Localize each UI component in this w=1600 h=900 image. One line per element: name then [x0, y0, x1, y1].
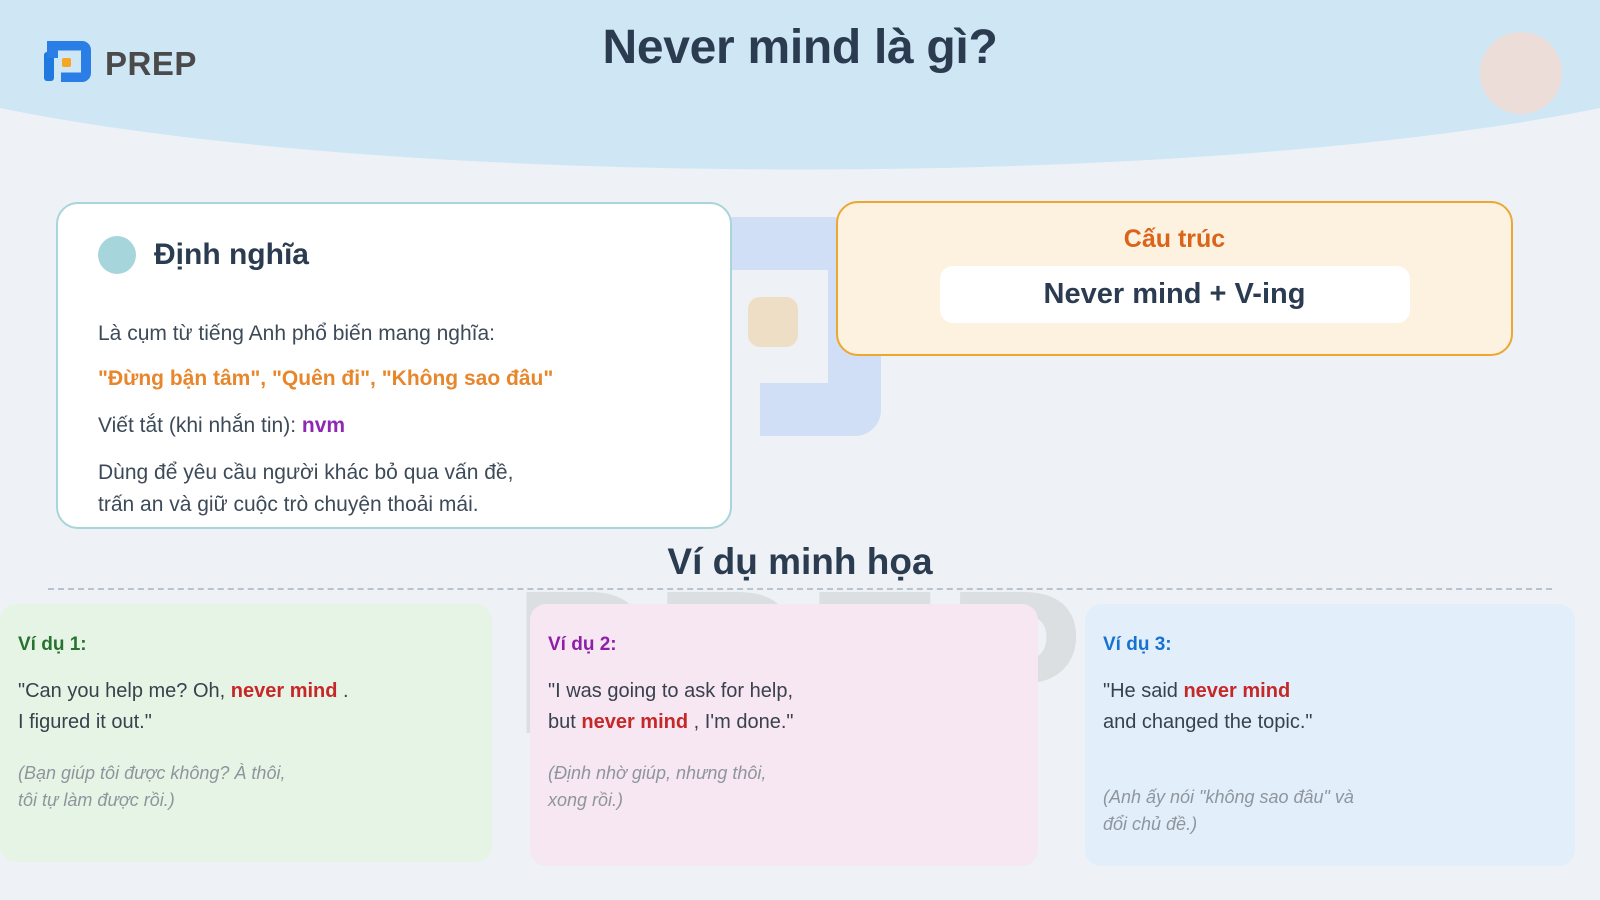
examples-section-title: Ví dụ minh họa: [0, 541, 1600, 583]
definition-title: Định nghĩa: [154, 238, 309, 272]
example-2-translation-line2: xong rồi.): [548, 790, 623, 810]
example-1-quote-post: .: [337, 680, 348, 702]
structure-title: Cấu trúc: [1124, 225, 1225, 254]
example-3-quote: "He said never mindand changed the topic…: [1103, 676, 1557, 738]
example-3-translation-line2: đổi chủ đề.): [1103, 814, 1197, 834]
example-2-quote: "I was going to ask for help,but never m…: [548, 676, 1020, 738]
definition-header: Định nghĩa: [98, 236, 690, 274]
example-3-quote-line2: and changed the topic.": [1103, 711, 1312, 733]
definition-usage-line2: trấn an và giữ cuộc trò chuyện thoải mái…: [98, 493, 479, 516]
page-title: Never mind là gì?: [0, 20, 1600, 75]
example-1-translation: (Bạn giúp tôi được không? À thôi,tôi tự …: [18, 760, 474, 814]
example-2-translation-line1: (Định nhờ giúp, nhưng thôi,: [548, 763, 766, 783]
teal-dot-icon: [98, 236, 136, 274]
example-card-1: Ví dụ 1: "Can you help me? Oh, never min…: [0, 604, 492, 862]
example-1-translation-line1: (Bạn giúp tôi được không? À thôi,: [18, 763, 285, 783]
example-3-quote-pre: "He said: [1103, 680, 1183, 702]
dashed-divider: [48, 588, 1552, 590]
example-2-quote-pre: "I was going to ask for help,: [548, 680, 793, 702]
definition-meanings: "Đừng bận tâm", "Quên đi", "Không sao đâ…: [98, 364, 690, 394]
example-3-translation: (Anh ấy nói "không sao đâu" vàđổi chủ đề…: [1103, 784, 1557, 838]
example-2-highlight: never mind: [581, 711, 688, 733]
example-3-translation-line1: (Anh ấy nói "không sao đâu" và: [1103, 787, 1354, 807]
infographic-canvas: PREP PREP Never mind là gì? Định nghĩa L…: [0, 0, 1600, 900]
example-2-quote-post: , I'm done.": [688, 711, 793, 733]
example-3-highlight: never mind: [1183, 680, 1290, 702]
definition-abbrev-label: Viết tắt (khi nhắn tin):: [98, 414, 302, 437]
example-3-label: Ví dụ 3:: [1103, 634, 1557, 656]
definition-intro-line: Là cụm từ tiếng Anh phổ biến mang nghĩa:: [98, 319, 690, 349]
definition-abbrev-row: Viết tắt (khi nhắn tin): nvm: [98, 411, 690, 441]
example-2-translation: (Định nhờ giúp, nhưng thôi,xong rồi.): [548, 760, 1020, 814]
structure-formula: Never mind + V-ing: [940, 266, 1410, 323]
definition-card: Định nghĩa Là cụm từ tiếng Anh phổ biến …: [56, 202, 732, 529]
example-1-highlight: never mind: [231, 680, 338, 702]
example-card-2: Ví dụ 2: "I was going to ask for help,bu…: [530, 604, 1038, 866]
definition-abbrev-value: nvm: [302, 414, 345, 437]
example-1-quote-line2: I figured it out.": [18, 711, 152, 733]
example-2-quote-line2-pre: but: [548, 711, 581, 733]
example-card-3: Ví dụ 3: "He said never mindand changed …: [1085, 604, 1575, 866]
example-1-translation-line2: tôi tự làm được rồi.): [18, 790, 175, 810]
definition-usage-line1: Dùng để yêu cầu người khác bỏ qua vấn đề…: [98, 461, 513, 484]
example-1-label: Ví dụ 1:: [18, 634, 474, 656]
definition-usage: Dùng để yêu cầu người khác bỏ qua vấn đề…: [98, 457, 690, 519]
example-1-quote-pre: "Can you help me? Oh,: [18, 680, 231, 702]
definition-body: Là cụm từ tiếng Anh phổ biến mang nghĩa:…: [98, 319, 690, 520]
structure-card: Cấu trúc Never mind + V-ing: [836, 201, 1513, 356]
example-2-label: Ví dụ 2:: [548, 634, 1020, 656]
example-1-quote: "Can you help me? Oh, never mind .I figu…: [18, 676, 474, 738]
